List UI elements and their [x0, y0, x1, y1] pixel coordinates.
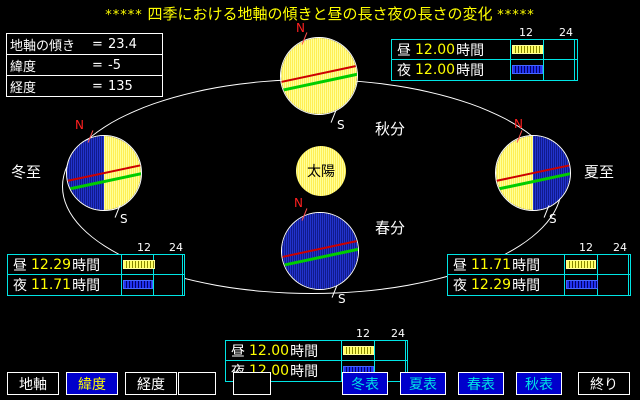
south-pole-label: S — [337, 118, 345, 132]
day-label: 昼 — [13, 255, 27, 275]
panel-axis-ticks: 12 24 — [225, 327, 411, 340]
hours-unit: 時間 — [456, 60, 484, 80]
daylight-bar-graph — [511, 40, 575, 59]
panel-box: 昼 12.00 時間 夜 12.00 時間 — [391, 39, 578, 81]
param-equals: = — [92, 58, 108, 73]
south-pole-label: S — [120, 212, 128, 226]
night-text: 夜 12.00 時間 — [392, 60, 511, 80]
season-label-summer-solstice: 夏至 — [584, 161, 614, 182]
title-stars-left: ***** — [105, 8, 143, 23]
daylight-row: 昼 12.00 時間 — [226, 341, 407, 361]
panel-box: 昼 12.29 時間 夜 11.71 時間 — [7, 254, 185, 296]
tick-24: 24 — [559, 26, 573, 39]
night-row: 夜 12.29 時間 — [448, 275, 630, 295]
panel-axis-ticks: 12 24 — [391, 26, 581, 39]
night-label: 夜 — [453, 275, 467, 295]
simulation-canvas: ***** 四季における地軸の傾きと昼の長さ夜の長さの変化 ***** 地軸の傾… — [0, 0, 640, 400]
day-bar — [512, 45, 543, 54]
gridline-12 — [597, 255, 598, 274]
hours-unit: 時間 — [290, 341, 318, 361]
daylight-row: 昼 12.29 時間 — [8, 255, 184, 275]
earth-winter-solstice — [66, 135, 142, 211]
night-label: 夜 — [13, 275, 27, 295]
button-summer-table[interactable]: 夏表 — [400, 372, 446, 395]
title-text: 四季における地軸の傾きと昼の長さ夜の長さの変化 — [147, 5, 492, 23]
night-value: 11.71 — [31, 277, 71, 293]
gridline-24 — [182, 255, 183, 274]
param-label-latitude: 緯度 — [10, 56, 92, 75]
tick-24: 24 — [613, 241, 627, 254]
daylight-text: 昼 12.00 時間 — [392, 40, 511, 60]
gridline-24 — [574, 60, 575, 80]
day-label: 昼 — [231, 341, 245, 361]
button-longitude[interactable]: 経度 — [125, 372, 177, 395]
daylight-bar-graph — [565, 255, 629, 274]
gridline-12 — [543, 40, 544, 59]
sun-body: 太陽 — [296, 146, 346, 196]
daylight-bar-graph — [342, 341, 406, 360]
south-pole-label: S — [549, 212, 557, 226]
hours-unit: 時間 — [456, 40, 484, 60]
param-value-latitude: -5 — [108, 58, 162, 73]
tick-12: 12 — [579, 241, 593, 254]
daylight-row: 昼 11.71 時間 — [448, 255, 630, 275]
panel-axis-ticks: 12 24 — [447, 241, 633, 254]
table-row: 経度 = 135 — [7, 76, 162, 97]
table-row: 地軸の傾き = 23.4 — [7, 34, 162, 55]
earth-autumn-equinox — [280, 37, 358, 115]
table-row: 緯度 = -5 — [7, 55, 162, 76]
gridline-24 — [574, 40, 575, 59]
daylight-bar-graph — [122, 255, 183, 274]
day-bar — [566, 260, 596, 269]
input-field-b[interactable] — [233, 372, 271, 395]
tick-12: 12 — [519, 26, 533, 39]
gridline-24 — [405, 341, 406, 360]
day-label: 昼 — [453, 255, 467, 275]
south-pole-label: S — [338, 292, 346, 306]
param-label-longitude: 経度 — [10, 77, 92, 96]
night-bar-graph — [511, 60, 575, 80]
gridline-24 — [182, 275, 183, 295]
gridline-24 — [628, 255, 629, 274]
gridline-12 — [543, 60, 544, 80]
gridline-12 — [374, 341, 375, 360]
north-pole-label: N — [294, 196, 303, 210]
night-bar-graph — [565, 275, 629, 295]
page-title: ***** 四季における地軸の傾きと昼の長さ夜の長さの変化 ***** — [0, 3, 640, 24]
param-label-axis-tilt: 地軸の傾き — [10, 35, 92, 54]
input-field-a[interactable] — [178, 372, 216, 395]
north-pole-label: N — [296, 21, 305, 35]
tick-24: 24 — [391, 327, 405, 340]
panel-box: 昼 11.71 時間 夜 12.29 時間 — [447, 254, 631, 296]
night-row: 夜 12.00 時間 — [392, 60, 577, 80]
gridline-12 — [153, 275, 154, 295]
day-value: 12.00 — [415, 42, 455, 58]
night-bar — [512, 65, 543, 74]
parameter-table: 地軸の傾き = 23.4 緯度 = -5 経度 = 135 — [6, 33, 163, 97]
button-quit[interactable]: 終り — [578, 372, 630, 395]
button-spring-table[interactable]: 春表 — [458, 372, 504, 395]
daylight-row: 昼 12.00 時間 — [392, 40, 577, 60]
night-label: 夜 — [397, 60, 411, 80]
season-label-winter-solstice: 冬至 — [11, 161, 41, 182]
day-value: 12.00 — [249, 343, 289, 359]
night-bar-graph — [122, 275, 183, 295]
night-bar — [566, 280, 598, 289]
sun-label: 太陽 — [307, 161, 335, 181]
button-winter-table[interactable]: 冬表 — [342, 372, 388, 395]
night-value: 12.29 — [471, 277, 511, 293]
param-value-axis-tilt: 23.4 — [108, 37, 162, 52]
tick-12: 12 — [137, 241, 151, 254]
day-bar — [343, 346, 374, 355]
hours-unit: 時間 — [72, 255, 100, 275]
season-label-autumn-equinox: 秋分 — [375, 118, 405, 139]
hours-unit: 時間 — [72, 275, 100, 295]
button-latitude[interactable]: 緯度 — [66, 372, 118, 395]
north-pole-label: N — [75, 118, 84, 132]
title-stars-right: ***** — [497, 8, 535, 23]
day-value: 11.71 — [471, 257, 511, 273]
bottom-toolbar: 地軸 緯度 経度 冬表 夏表 春表 秋表 終り — [0, 372, 640, 398]
gridline-24 — [628, 275, 629, 295]
tick-24: 24 — [169, 241, 183, 254]
param-equals: = — [92, 79, 108, 94]
daylight-text: 昼 11.71 時間 — [448, 255, 565, 275]
season-label-spring-equinox: 春分 — [375, 217, 405, 238]
day-value: 12.29 — [31, 257, 71, 273]
night-text: 夜 12.29 時間 — [448, 275, 565, 295]
button-autumn-table[interactable]: 秋表 — [516, 372, 562, 395]
param-value-longitude: 135 — [108, 79, 162, 94]
earth-spring-equinox — [281, 212, 359, 290]
night-text: 夜 11.71 時間 — [8, 275, 122, 295]
night-value: 12.00 — [415, 62, 455, 78]
night-bar — [123, 280, 153, 289]
param-equals: = — [92, 37, 108, 52]
daylight-text: 昼 12.29 時間 — [8, 255, 122, 275]
panel-axis-ticks: 12 24 — [7, 241, 187, 254]
hours-unit: 時間 — [512, 255, 540, 275]
night-row: 夜 11.71 時間 — [8, 275, 184, 295]
north-pole-label: N — [514, 117, 523, 131]
day-label: 昼 — [397, 40, 411, 60]
earth-summer-solstice — [495, 135, 571, 211]
daylight-text: 昼 12.00 時間 — [226, 341, 342, 361]
hours-unit: 時間 — [512, 275, 540, 295]
day-bar — [123, 260, 155, 269]
tick-12: 12 — [356, 327, 370, 340]
button-axis-tilt[interactable]: 地軸 — [7, 372, 59, 395]
